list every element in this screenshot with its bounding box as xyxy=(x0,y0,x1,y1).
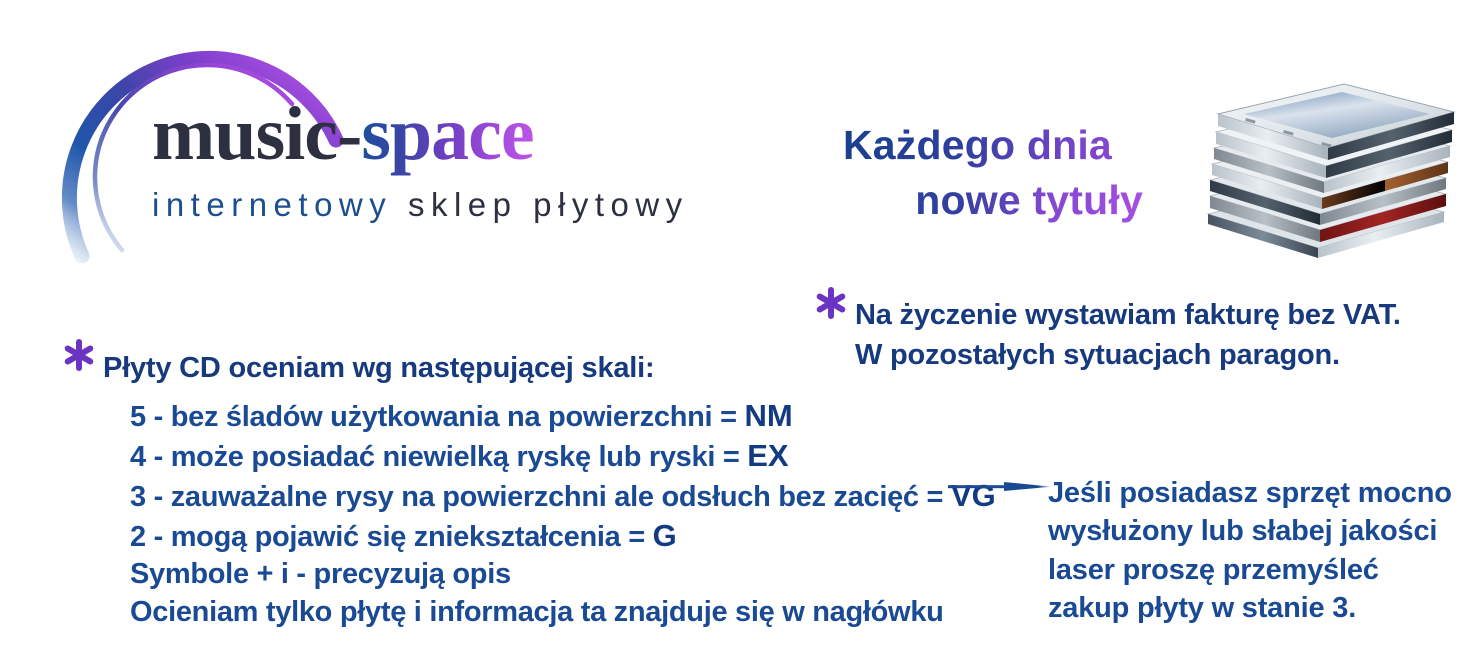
scale-item-text: Symbole + i - precyzują opis xyxy=(130,558,511,590)
scale-item-4: Symbole + i - precyzują opis xyxy=(130,556,950,593)
asterisk-icon xyxy=(814,286,848,320)
scale-item-3: 2 - mogą pojawić się zniekształcenia = G xyxy=(130,516,950,556)
tagline-line-1: Każdego dnia xyxy=(843,118,1173,173)
logo-subtitle: internetowy sklep płytowy xyxy=(152,186,689,224)
logo-wordmark: music-space xyxy=(152,96,534,172)
scale-item-2: 3 - zauważalne rysy na powierzchni ale o… xyxy=(130,476,950,516)
arrow-right-icon xyxy=(948,476,1052,498)
logo-word-music: music xyxy=(152,92,337,176)
vat-note-line-2: W pozostałych sytuacjach paragon. xyxy=(855,335,1415,375)
asterisk-icon xyxy=(62,338,96,372)
scale-heading-rest: oceniam wg następującej skali: xyxy=(221,352,655,384)
scale-heading-strong: Płyty CD xyxy=(103,352,221,384)
scale-item-1: 4 - może posiadać niewielką ryskę lub ry… xyxy=(130,436,950,476)
scale-item-text: 5 - bez śladów użytkowania na powierzchn… xyxy=(130,401,744,433)
tagline-line-2: nowe tytuły xyxy=(843,173,1173,228)
scale-item-code: G xyxy=(653,518,677,553)
advice-line-1: Jeśli posiadasz sprzęt mocno xyxy=(1048,474,1428,512)
scale-item-text: Ocieniam tylko płytę i informacja ta zna… xyxy=(130,596,944,628)
scale-item-code: NM xyxy=(744,398,792,433)
advice-text: Jeśli posiadasz sprzęt mocno wysłużony l… xyxy=(1048,474,1428,627)
logo-subtitle-part-1: internetowy xyxy=(152,186,408,223)
scale-heading: Płyty CD oceniam wg następującej skali: xyxy=(103,352,654,385)
cd-jewel-case-stack-icon xyxy=(1186,62,1461,284)
scale-item-5: Ocieniam tylko płytę i informacja ta zna… xyxy=(130,594,950,631)
scale-item-text: 4 - może posiadać niewielką ryskę lub ry… xyxy=(130,441,747,473)
advice-line-2: wysłużony lub słabej jakości xyxy=(1048,512,1428,550)
vat-note-line-1: Na życzenie wystawiam fakturę bez VAT. xyxy=(855,295,1415,335)
advice-line-4: zakup płyty w stanie 3. xyxy=(1048,589,1428,627)
logo-word-dash: - xyxy=(337,92,361,176)
tagline: Każdego dnia nowe tytuły xyxy=(843,118,1173,227)
logo-word-space: space xyxy=(361,92,533,176)
brand-logo: music-space internetowy sklep płytowy xyxy=(0,0,780,270)
scale-item-code: EX xyxy=(747,438,788,473)
advice-line-3: laser proszę przemyśleć xyxy=(1048,551,1428,589)
scale-item-text: 2 - mogą pojawić się zniekształcenia = xyxy=(130,521,653,553)
scale-list: 5 - bez śladów użytkowania na powierzchn… xyxy=(130,396,950,631)
scale-item-0: 5 - bez śladów użytkowania na powierzchn… xyxy=(130,396,950,436)
vat-note: Na życzenie wystawiam fakturę bez VAT. W… xyxy=(855,295,1415,375)
logo-subtitle-part-2: sklep płytowy xyxy=(408,186,689,223)
promo-banner: music-space internetowy sklep płytowy Ka… xyxy=(0,0,1481,655)
scale-item-text: 3 - zauważalne rysy na powierzchni ale o… xyxy=(130,481,951,513)
